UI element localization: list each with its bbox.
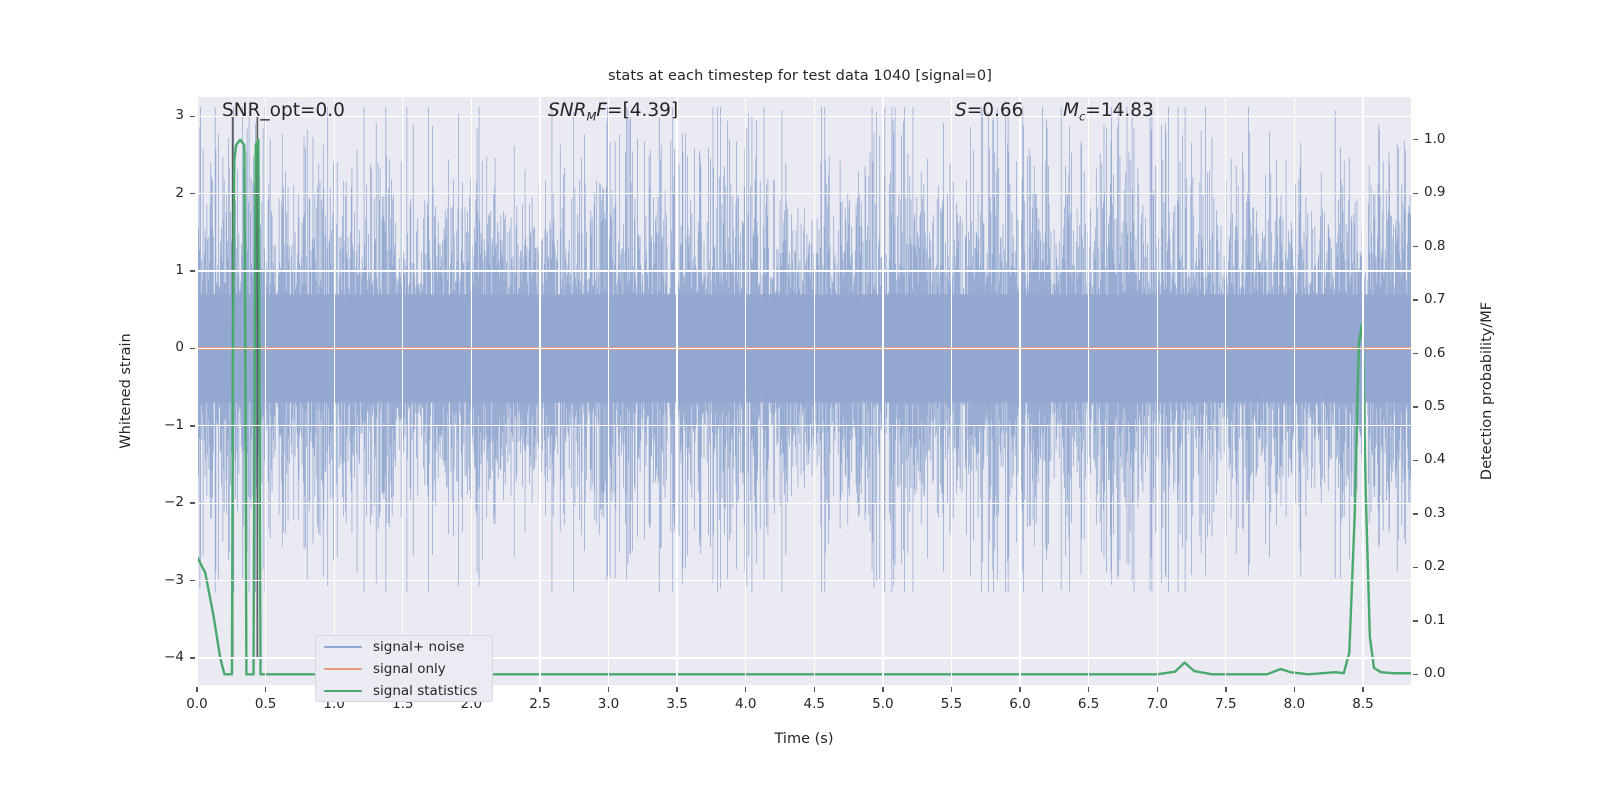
y-tick-label-left: 1 (157, 262, 184, 278)
x-tick-mark (608, 687, 609, 692)
y-tick-mark-left (190, 193, 195, 194)
gridline-horizontal (197, 503, 1411, 504)
legend-label-signal-only: signal only (373, 661, 446, 677)
x-tick-label: 3.5 (647, 696, 707, 712)
y-tick-label-right: 0.0 (1424, 665, 1445, 681)
annotation-chirp-mass: Mc=14.83 (1063, 100, 1154, 124)
x-tick-mark (1225, 687, 1226, 692)
y-tick-label-left: −3 (157, 572, 184, 588)
legend-swatch-signal-only (324, 668, 362, 670)
gridline-vertical (1362, 97, 1363, 685)
legend-label-signal-statistics: signal statistics (373, 683, 477, 699)
x-tick-label: 7.5 (1196, 696, 1256, 712)
gridline-horizontal (197, 270, 1411, 271)
y-tick-mark-right (1413, 353, 1418, 354)
annotation-snr-opt: SNR_opt=0.0 (222, 100, 345, 121)
x-tick-label: 6.5 (1059, 696, 1119, 712)
gridline-vertical (471, 97, 472, 685)
x-tick-mark (1294, 687, 1295, 692)
gridline-vertical (1088, 97, 1089, 685)
x-tick-mark (814, 687, 815, 692)
y-tick-mark-right (1413, 567, 1418, 568)
y-tick-label-right: 0.6 (1424, 345, 1445, 361)
x-tick-mark (265, 687, 266, 692)
page-title: stats at each timestep for test data 104… (0, 68, 1600, 84)
y-tick-mark-left (190, 270, 195, 271)
y-tick-mark-right (1413, 460, 1418, 461)
y-tick-label-right: 0.9 (1424, 184, 1445, 200)
legend-item-signal-only[interactable]: signal only (316, 658, 492, 680)
x-tick-label: 4.5 (784, 696, 844, 712)
x-tick-label: 8.5 (1333, 696, 1393, 712)
y-tick-label-right: 0.5 (1424, 398, 1445, 414)
gridline-horizontal (197, 580, 1411, 581)
y-tick-label-left: −4 (157, 649, 184, 665)
legend-swatch-signal-noise (324, 646, 362, 648)
legend[interactable]: signal+ noise signal only signal statist… (315, 635, 493, 702)
gridline-vertical (334, 97, 335, 685)
legend-item-signal-statistics[interactable]: signal statistics (316, 680, 492, 702)
x-axis-label: Time (s) (775, 731, 834, 747)
gridline-vertical (951, 97, 952, 685)
y-tick-label-right: 0.8 (1424, 238, 1445, 254)
y-tick-label-left: −2 (157, 494, 184, 510)
legend-swatch-signal-statistics (324, 690, 362, 692)
x-tick-label: 0.5 (236, 696, 296, 712)
y-tick-mark-right (1413, 193, 1418, 194)
gridline-horizontal (197, 348, 1411, 349)
data-layer (197, 97, 1411, 685)
gridline-vertical (1157, 97, 1158, 685)
y-tick-mark-right (1413, 139, 1418, 140)
gridline-vertical (1225, 97, 1226, 685)
x-tick-mark (1088, 687, 1089, 692)
y-tick-label-right: 0.1 (1424, 612, 1445, 628)
x-tick-label: 5.0 (853, 696, 913, 712)
matplotlib-figure: stats at each timestep for test data 104… (0, 0, 1600, 800)
x-tick-label: 7.0 (1127, 696, 1187, 712)
y-tick-mark-left (190, 348, 195, 349)
y-tick-label-left: −1 (157, 417, 184, 433)
x-tick-mark (539, 687, 540, 692)
y-tick-mark-right (1413, 620, 1418, 621)
x-tick-mark (882, 687, 883, 692)
y-tick-label-left: 3 (157, 107, 184, 123)
y-tick-label-right: 1.0 (1424, 131, 1445, 147)
y-tick-label-right: 0.3 (1424, 505, 1445, 521)
x-tick-label: 6.0 (990, 696, 1050, 712)
y-tick-label-right: 0.2 (1424, 558, 1445, 574)
legend-item-signal-noise[interactable]: signal+ noise (316, 636, 492, 658)
y-tick-mark-left (190, 502, 195, 503)
x-tick-label: 5.5 (921, 696, 981, 712)
gridline-vertical (402, 97, 403, 685)
x-tick-mark (1019, 687, 1020, 692)
y-tick-mark-right (1413, 299, 1418, 300)
y-axis-label-right: Detection probability/MF (1479, 302, 1495, 480)
gridline-vertical (265, 97, 266, 685)
y-tick-label-right: 0.7 (1424, 291, 1445, 307)
x-tick-label: 0.0 (167, 696, 227, 712)
y-tick-mark-left (190, 580, 195, 581)
gridline-vertical (1294, 97, 1295, 685)
gridline-vertical (1019, 97, 1020, 685)
y-tick-label-left: 2 (157, 185, 184, 201)
x-tick-mark (951, 687, 952, 692)
gridline-horizontal (197, 193, 1411, 194)
y-tick-mark-left (190, 425, 195, 426)
y-tick-mark-right (1413, 406, 1418, 407)
gridline-horizontal (197, 116, 1411, 117)
x-tick-label: 3.0 (579, 696, 639, 712)
annotation-snr-mf: SNRMF=[4.39] (548, 100, 678, 124)
annotation-s-stat: S=0.66 (955, 100, 1023, 121)
x-tick-label: 2.5 (510, 696, 570, 712)
gridline-vertical (608, 97, 609, 685)
gridline-horizontal (197, 425, 1411, 426)
x-tick-label: 4.0 (716, 696, 776, 712)
y-tick-mark-left (190, 657, 195, 658)
gridline-vertical (882, 97, 883, 685)
gridline-vertical (814, 97, 815, 685)
x-tick-mark (676, 687, 677, 692)
gridline-vertical (539, 97, 540, 685)
y-tick-mark-left (190, 116, 195, 117)
x-tick-mark (1157, 687, 1158, 692)
gridline-vertical (676, 97, 677, 685)
x-tick-label: 8.0 (1264, 696, 1324, 712)
x-tick-mark (745, 687, 746, 692)
y-tick-label-left: 0 (157, 339, 184, 355)
gridline-vertical (197, 97, 198, 685)
y-tick-mark-right (1413, 513, 1418, 514)
legend-label-signal-noise: signal+ noise (373, 639, 464, 655)
y-tick-mark-right (1413, 674, 1418, 675)
y-tick-mark-right (1413, 246, 1418, 247)
plot-area (197, 97, 1411, 685)
y-tick-label-right: 0.4 (1424, 451, 1445, 467)
x-tick-mark (196, 687, 197, 692)
x-tick-mark (1362, 687, 1363, 692)
y-axis-label-left: Whitened strain (118, 333, 134, 448)
gridline-vertical (745, 97, 746, 685)
